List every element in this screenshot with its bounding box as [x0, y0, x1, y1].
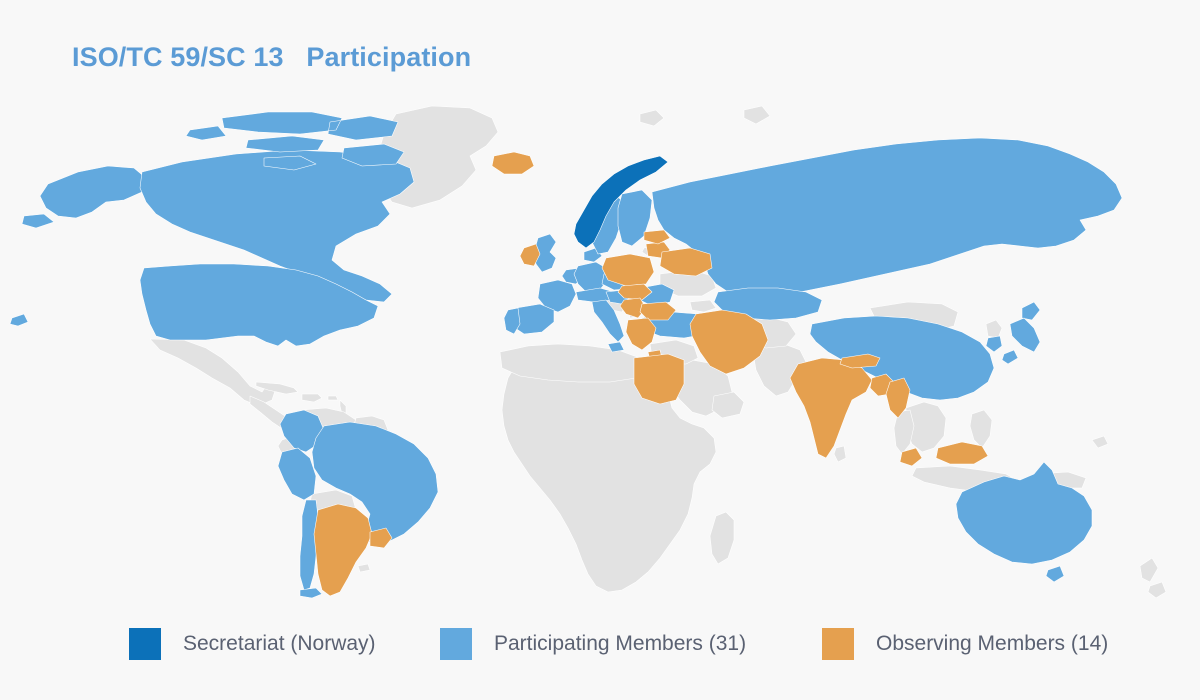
- page-title: ISO/TC 59/SC 13 Participation: [72, 42, 471, 73]
- country-north-korea: [986, 320, 1002, 338]
- country-sri-lanka: [834, 446, 846, 462]
- country-latvia: [644, 230, 670, 244]
- country-madagascar: [710, 512, 734, 564]
- country-yemen-oman: [712, 392, 744, 418]
- country-tasmania: [1046, 566, 1064, 582]
- country-argentina: [314, 504, 372, 596]
- country-falklands: [358, 564, 370, 572]
- legend-label-secretariat: Secretariat (Norway): [183, 628, 376, 660]
- world-choropleth-map: [0, 96, 1200, 604]
- country-svalbard: [640, 110, 664, 126]
- country-egypt: [634, 354, 684, 404]
- country-malaysia: [900, 442, 988, 466]
- country-portugal: [504, 308, 520, 334]
- country-hispaniola: [302, 394, 322, 402]
- country-germany: [574, 262, 606, 292]
- legend-item-observing: Observing Members (14): [822, 628, 1108, 660]
- legend-swatch-observing: [822, 628, 854, 660]
- country-tasmania-grey-islands: [1092, 436, 1108, 448]
- country-belarus: [660, 248, 712, 276]
- country-india: [790, 358, 872, 458]
- legend-swatch-secretariat: [129, 628, 161, 660]
- country-tierra-del-fuego: [300, 588, 322, 598]
- legend-item-participating: Participating Members (31): [440, 628, 746, 660]
- country-japan: [1002, 302, 1040, 364]
- country-mexico: [150, 339, 276, 406]
- country-new-zealand: [1140, 558, 1166, 598]
- country-peru: [278, 448, 316, 500]
- country-puerto-rico: [328, 396, 338, 400]
- country-alaska: [22, 166, 146, 228]
- legend-item-secretariat: Secretariat (Norway): [129, 628, 376, 660]
- country-iceland: [492, 152, 534, 174]
- legend-label-participating: Participating Members (31): [494, 628, 746, 660]
- world-map-container: [0, 96, 1200, 604]
- map-legend: Secretariat (Norway) Participating Membe…: [0, 620, 1200, 680]
- legend-label-observing: Observing Members (14): [876, 628, 1108, 660]
- slide-canvas: ISO/TC 59/SC 13 Participation: [0, 0, 1200, 700]
- country-hawaii: [10, 314, 28, 326]
- legend-swatch-participating: [440, 628, 472, 660]
- country-south-korea: [986, 336, 1002, 352]
- country-russia: [652, 138, 1122, 298]
- country-philippines: [970, 410, 992, 448]
- country-georgia-armenia: [690, 300, 716, 312]
- country-novaya-zemlya: [744, 106, 770, 124]
